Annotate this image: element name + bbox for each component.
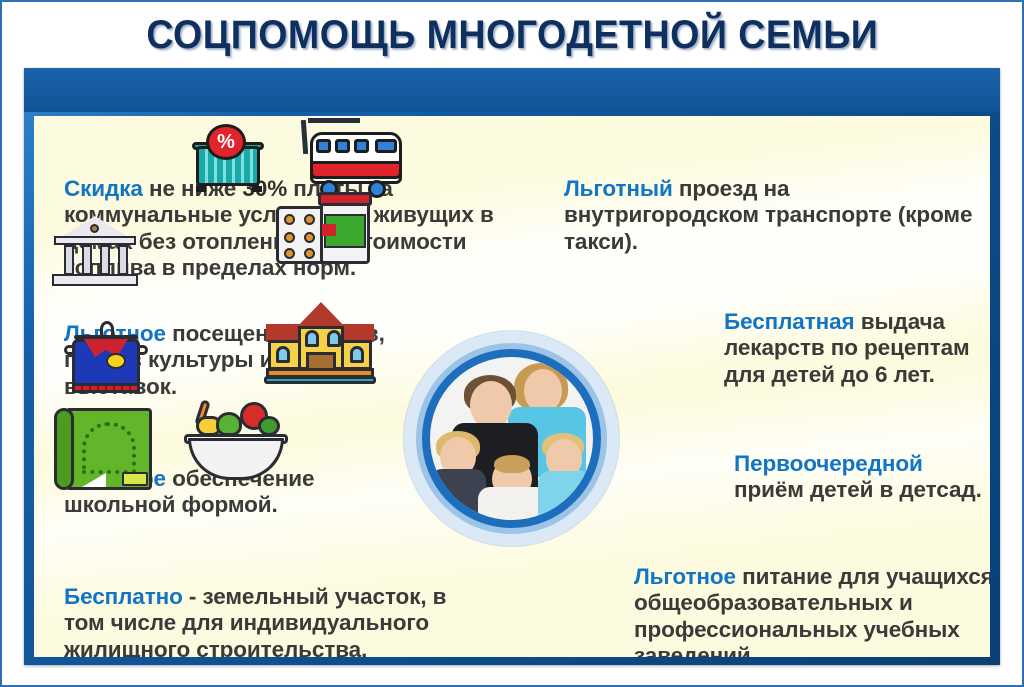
- benefit-meals-lead: Льготное: [634, 564, 736, 589]
- family-photo: [404, 331, 619, 546]
- percent-glyph: %: [206, 124, 246, 160]
- school-uniform-icon: [64, 321, 148, 401]
- family-photo-image: [430, 357, 593, 520]
- benefit-school-meals: Льготное питание для учащихся общеобразо…: [634, 564, 990, 657]
- poster-root: СОЦПОМОЩЬ МНОГОДЕТНОЙ СЕМЬИ Скидка не ни…: [0, 0, 1024, 687]
- benefit-land-plot: Бесплатно - земельный участок, в том чис…: [64, 584, 454, 657]
- frame-top-band: [24, 68, 1000, 112]
- food-bowl-icon: [184, 396, 288, 482]
- benefit-transport-lead: Льготный: [564, 176, 673, 201]
- poster-title-bar: СОЦПОМОЩЬ МНОГОДЕТНОЙ СЕМЬИ: [2, 2, 1022, 68]
- museum-icon: [52, 212, 138, 290]
- land-plot-icon: [54, 406, 154, 492]
- medicine-icon: [276, 188, 372, 268]
- radiator-percent-icon: %: [192, 124, 266, 192]
- kindergarten-icon: [264, 296, 376, 382]
- benefit-transport: Льготный проезд на внутригородском транс…: [564, 176, 984, 255]
- benefit-land-lead: Бесплатно: [64, 584, 183, 609]
- benefit-free-medicine: Бесплатная выдача лекарств по рецептам д…: [724, 309, 990, 388]
- benefit-medicine-lead: Бесплатная: [724, 309, 855, 334]
- benefit-kindergarten-lead: Первоочередной: [734, 451, 923, 476]
- page-title: СОЦПОМОЩЬ МНОГОДЕТНОЙ СЕМЬИ: [146, 13, 878, 58]
- family-group-illustration: [430, 357, 593, 520]
- benefit-kindergarten-rest: приём детей в детсад.: [734, 477, 982, 502]
- poster-content-area: Скидка не ниже 30% платы за коммунальные…: [34, 116, 990, 657]
- benefit-kindergarten: Первоочередной приём детей в детсад.: [734, 451, 990, 504]
- poster-frame: Скидка не ниже 30% платы за коммунальные…: [24, 68, 1000, 665]
- benefit-utility-lead: Скидка: [64, 176, 143, 201]
